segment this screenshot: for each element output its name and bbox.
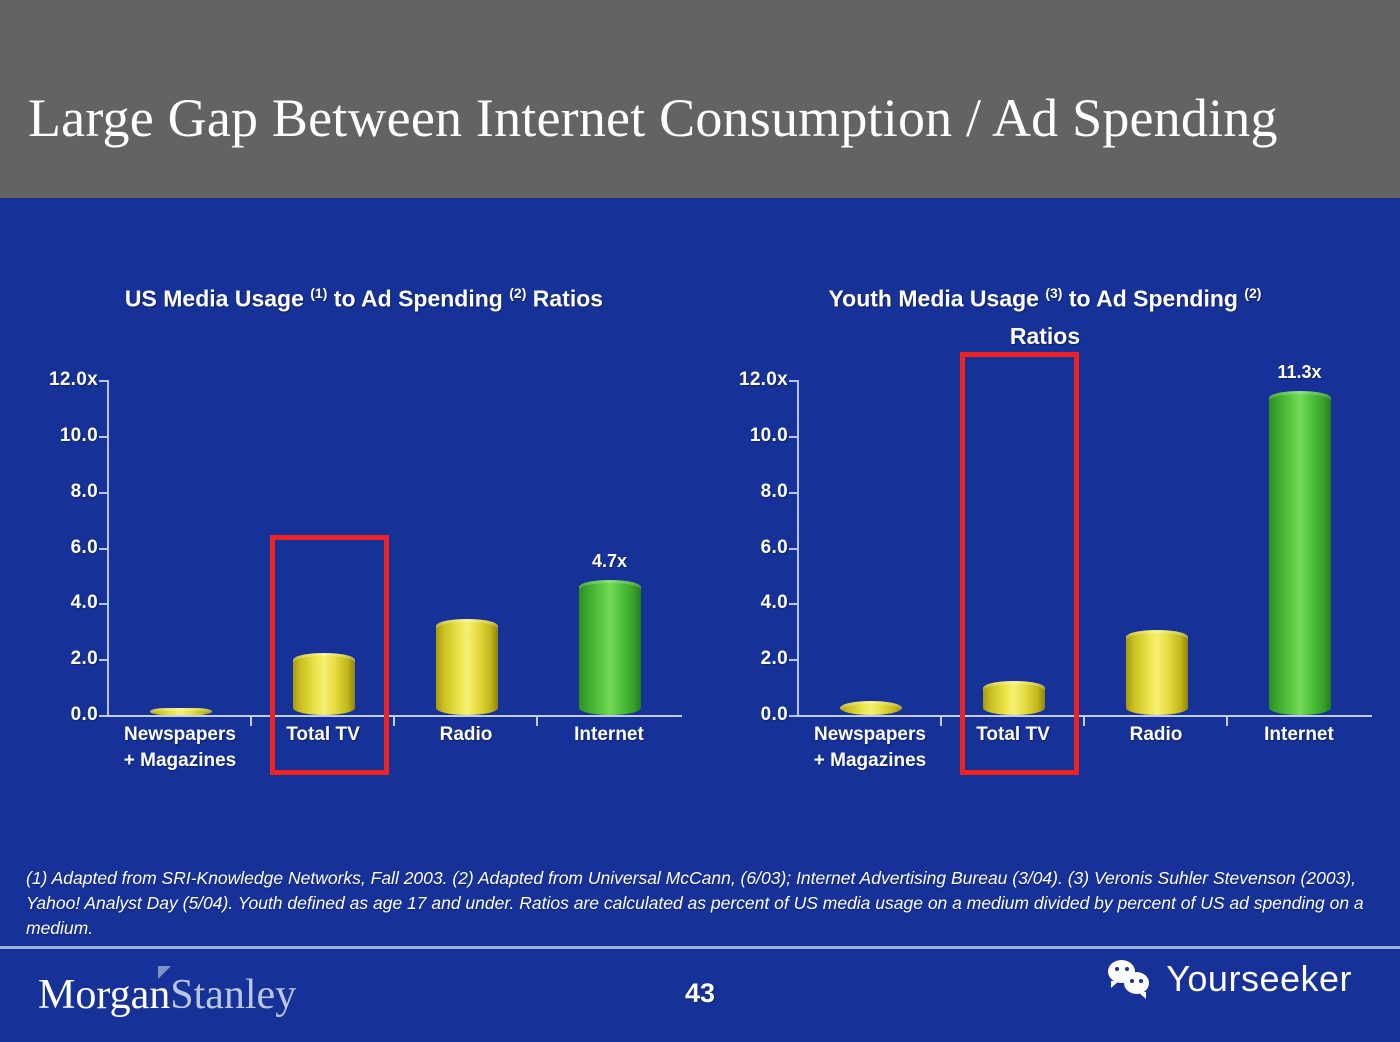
y-axis-tick-4 bbox=[99, 603, 108, 605]
y-axis-tick-12 bbox=[789, 380, 798, 382]
bar-group-us: 4.7x bbox=[109, 370, 682, 715]
highlight-box-internet-youth bbox=[960, 352, 1079, 775]
category-label-line-2: + Magazines bbox=[100, 748, 260, 774]
bar-slot-radio-us bbox=[395, 370, 538, 715]
bar-value-internet-youth: 11.3x bbox=[1277, 362, 1321, 383]
slide: Large Gap Between Internet Consumption /… bbox=[0, 0, 1400, 1042]
y-tick-label-12: 12.0x bbox=[49, 369, 98, 391]
y-axis-tick-2 bbox=[789, 659, 798, 661]
chart-title-superscript-3: (3) bbox=[1045, 285, 1062, 301]
chart-title-tail: Ratios bbox=[1010, 323, 1080, 349]
y-axis-tick-2 bbox=[99, 659, 108, 661]
bar-group-youth: 11.3x bbox=[799, 370, 1372, 715]
wechat-icon bbox=[1108, 960, 1154, 998]
chart-title-youth: Youth Media Usage (3) to Ad Spending (2)… bbox=[700, 275, 1390, 355]
y-tick-label-0: 0.0 bbox=[71, 704, 98, 726]
category-label-line-1: Newspapers bbox=[790, 722, 950, 748]
bar-radio-us[interactable] bbox=[436, 619, 498, 715]
category-label-internet-us: Internet bbox=[529, 722, 689, 748]
y-tick-label-2: 2.0 bbox=[761, 648, 788, 670]
chart-title-tail: Ratios bbox=[533, 286, 603, 312]
bar-internet-youth[interactable] bbox=[1269, 391, 1331, 715]
y-tick-label-10: 10.0 bbox=[750, 425, 788, 447]
category-label-radio-youth: Radio bbox=[1076, 722, 1236, 748]
chart-title-main: Youth Media Usage bbox=[829, 286, 1039, 312]
chart-title-superscript-1: (1) bbox=[310, 285, 327, 301]
chart-title-mid: to Ad Spending bbox=[334, 286, 503, 312]
bar-internet-us[interactable] bbox=[579, 580, 641, 715]
chart-panel-us-media-usage: US Media Usage (1) to Ad Spending (2) Ra… bbox=[10, 275, 700, 815]
y-tick-label-2: 2.0 bbox=[71, 648, 98, 670]
highlight-box-internet-us bbox=[270, 535, 389, 775]
bar-value-internet-us: 4.7x bbox=[592, 551, 627, 572]
plot-area-youth: 12.0x 10.0 8.0 6.0 4.0 2.0 0.0 bbox=[700, 370, 1390, 730]
category-label-radio-us: Radio bbox=[386, 722, 546, 748]
y-axis-tick-10 bbox=[789, 436, 798, 438]
y-tick-label-12: 12.0x bbox=[739, 369, 788, 391]
bar-radio-youth[interactable] bbox=[1126, 630, 1188, 715]
y-tick-label-6: 6.0 bbox=[761, 537, 788, 559]
y-tick-label-10: 10.0 bbox=[60, 425, 98, 447]
category-label-internet-youth: Internet bbox=[1219, 722, 1379, 748]
bar-slot-newspapers-us bbox=[109, 370, 252, 715]
footnote: (1) Adapted from SRI-Knowledge Networks,… bbox=[26, 866, 1376, 941]
category-label-newspapers-us: Newspapers + Magazines bbox=[100, 722, 260, 774]
bar-newspapers-us[interactable] bbox=[150, 708, 212, 715]
y-tick-label-6: 6.0 bbox=[71, 537, 98, 559]
bar-slot-internet-youth: 11.3x bbox=[1228, 370, 1371, 715]
chart-title-main: US Media Usage bbox=[125, 286, 304, 312]
page-title: Large Gap Between Internet Consumption /… bbox=[28, 86, 1378, 150]
bar-slot-newspapers-youth bbox=[799, 370, 942, 715]
y-axis-tick-6 bbox=[789, 548, 798, 550]
y-axis-tick-8 bbox=[789, 492, 798, 494]
y-tick-label-4: 4.0 bbox=[71, 592, 98, 614]
chart-panel-youth-media-usage: Youth Media Usage (3) to Ad Spending (2)… bbox=[700, 275, 1390, 815]
y-axis-tick-10 bbox=[99, 436, 108, 438]
plot-area-us: 12.0x 10.0 8.0 6.0 4.0 2.0 0.0 bbox=[10, 370, 700, 730]
footer-divider bbox=[0, 946, 1400, 949]
y-tick-label-4: 4.0 bbox=[761, 592, 788, 614]
brand-watermark: Yourseeker bbox=[1108, 958, 1352, 1000]
y-tick-label-0: 0.0 bbox=[761, 704, 788, 726]
category-label-line-1: Newspapers bbox=[100, 722, 260, 748]
bar-slot-radio-youth bbox=[1085, 370, 1228, 715]
y-axis-tick-4 bbox=[789, 603, 798, 605]
chart-title-us: US Media Usage (1) to Ad Spending (2) Ra… bbox=[10, 275, 700, 318]
chart-title-superscript-2: (2) bbox=[509, 285, 526, 301]
y-axis-labels-youth: 12.0x 10.0 8.0 6.0 4.0 2.0 0.0 bbox=[700, 370, 788, 715]
bar-slot-internet-us: 4.7x bbox=[538, 370, 681, 715]
chart-title-superscript-2: (2) bbox=[1244, 285, 1261, 301]
category-label-newspapers-youth: Newspapers + Magazines bbox=[790, 722, 950, 774]
y-axis-labels-us: 12.0x 10.0 8.0 6.0 4.0 2.0 0.0 bbox=[10, 370, 98, 715]
bar-newspapers-youth[interactable] bbox=[840, 701, 902, 715]
chart-title-mid: to Ad Spending bbox=[1069, 286, 1238, 312]
y-tick-label-8: 8.0 bbox=[761, 481, 788, 503]
y-axis-tick-8 bbox=[99, 492, 108, 494]
brand-name: Yourseeker bbox=[1166, 958, 1352, 1000]
category-label-line-2: + Magazines bbox=[790, 748, 950, 774]
y-tick-label-8: 8.0 bbox=[71, 481, 98, 503]
y-axis-tick-6 bbox=[99, 548, 108, 550]
y-axis-tick-12 bbox=[99, 380, 108, 382]
